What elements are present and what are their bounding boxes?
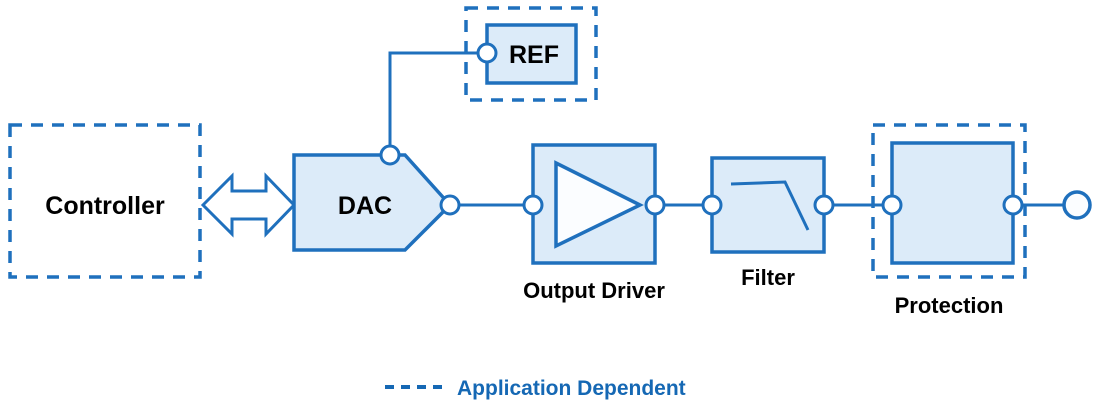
node-output-driver-input-pin xyxy=(524,196,542,214)
block-protection[interactable]: Protection xyxy=(873,125,1025,318)
connection-dac-to-ref xyxy=(390,53,487,155)
dac-label: DAC xyxy=(338,192,392,220)
node-output-driver-output-pin xyxy=(646,196,664,214)
filter-box xyxy=(712,158,824,252)
node-protection-output-pin xyxy=(1004,196,1022,214)
output-terminal-icon xyxy=(1064,192,1090,218)
block-dac[interactable]: DAC xyxy=(294,155,450,250)
node-ref-input-pin xyxy=(478,44,496,62)
block-diagram: Controller DAC REF Output Driver Filter xyxy=(0,0,1100,408)
node-dac-output-pin xyxy=(441,196,459,214)
block-filter[interactable]: Filter xyxy=(712,158,824,290)
node-filter-input-pin xyxy=(703,196,721,214)
diagram-canvas: Controller DAC REF Output Driver Filter xyxy=(0,0,1100,408)
legend: Application Dependent xyxy=(385,377,686,400)
protection-inner-box xyxy=(892,143,1013,263)
node-protection-input-pin xyxy=(883,196,901,214)
controller-label: Controller xyxy=(45,192,165,220)
legend-label: Application Dependent xyxy=(457,377,686,400)
protection-label: Protection xyxy=(895,293,1004,318)
output-driver-label: Output Driver xyxy=(523,278,665,303)
filter-label: Filter xyxy=(741,265,795,290)
block-controller[interactable]: Controller xyxy=(10,125,200,277)
ref-label: REF xyxy=(509,41,559,69)
arrow-double-head xyxy=(203,176,294,234)
bidirectional-arrow-icon xyxy=(203,176,294,234)
block-output-driver[interactable]: Output Driver xyxy=(523,145,665,303)
node-dac-ref-pin xyxy=(381,146,399,164)
node-filter-output-pin xyxy=(815,196,833,214)
